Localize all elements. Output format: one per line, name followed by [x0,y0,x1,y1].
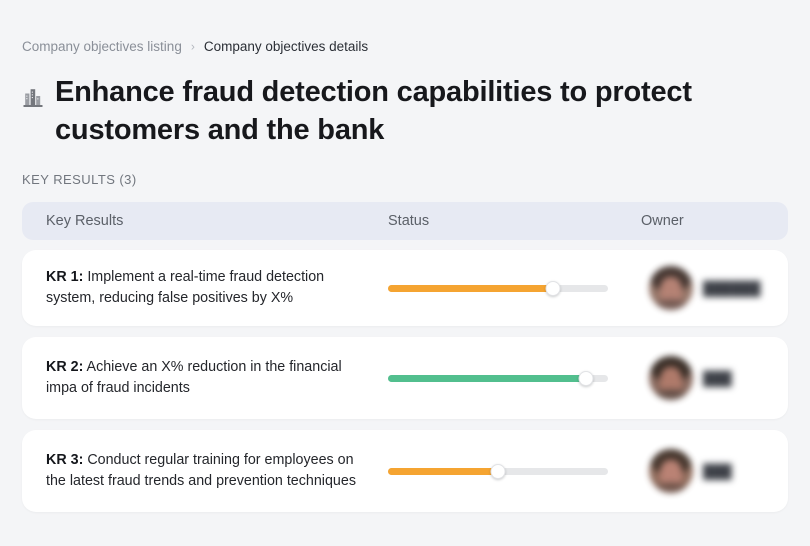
avatar [649,266,693,310]
avatar [649,356,693,400]
key-results-list: KR 1: Implement a real-time fraud detect… [22,250,788,512]
status-cell [388,279,641,297]
key-result-description: Achieve an X% reduction in the financial… [46,359,342,396]
key-result-description: Implement a real-time fraud detection sy… [46,269,324,306]
progress-slider[interactable] [388,462,608,480]
column-header-owner: Owner [641,213,788,229]
progress-handle[interactable] [579,371,594,386]
bank-building-icon [22,84,44,110]
key-result-text: KR 1: Implement a real-time fraud detect… [22,253,388,323]
owner-cell[interactable]: ██████ [641,266,788,310]
table-header-row: Key Results Status Owner [22,202,788,240]
key-result-tag: KR 2: [46,359,83,375]
column-header-status: Status [388,213,641,229]
key-result-text: KR 2: Achieve an X% reduction in the fin… [22,343,388,413]
objective-details-page: Company objectives listing › Company obj… [0,0,810,546]
breadcrumb-current: Company objectives details [204,38,368,56]
progress-slider[interactable] [388,279,608,297]
page-title-row: Enhance fraud detection capabilities to … [22,73,712,149]
table-row[interactable]: KR 1: Implement a real-time fraud detect… [22,250,788,326]
owner-name: ███ [703,371,732,386]
progress-handle[interactable] [546,281,561,296]
breadcrumb: Company objectives listing › Company obj… [22,0,788,56]
page-title: Enhance fraud detection capabilities to … [55,73,712,149]
key-result-tag: KR 1: [46,269,83,285]
owner-cell[interactable]: ███ [641,356,788,400]
table-row[interactable]: KR 2: Achieve an X% reduction in the fin… [22,337,788,419]
progress-fill [388,375,586,382]
breadcrumb-link-listing[interactable]: Company objectives listing [22,38,182,56]
progress-handle[interactable] [491,464,506,479]
key-results-section-label: KEY RESULTS (3) [22,172,788,187]
owner-name: ███ [703,464,732,479]
progress-fill [388,468,498,475]
key-result-tag: KR 3: [46,452,83,468]
chevron-right-icon: › [191,41,195,53]
status-cell [388,462,641,480]
progress-fill [388,285,553,292]
owner-cell[interactable]: ███ [641,449,788,493]
status-cell [388,369,641,387]
column-header-key-results: Key Results [22,213,388,229]
progress-slider[interactable] [388,369,608,387]
avatar [649,449,693,493]
key-result-text: KR 3: Conduct regular training for emplo… [22,436,388,506]
owner-name: ██████ [703,281,760,296]
key-result-description: Conduct regular training for employees o… [46,452,356,489]
table-row[interactable]: KR 3: Conduct regular training for emplo… [22,430,788,512]
